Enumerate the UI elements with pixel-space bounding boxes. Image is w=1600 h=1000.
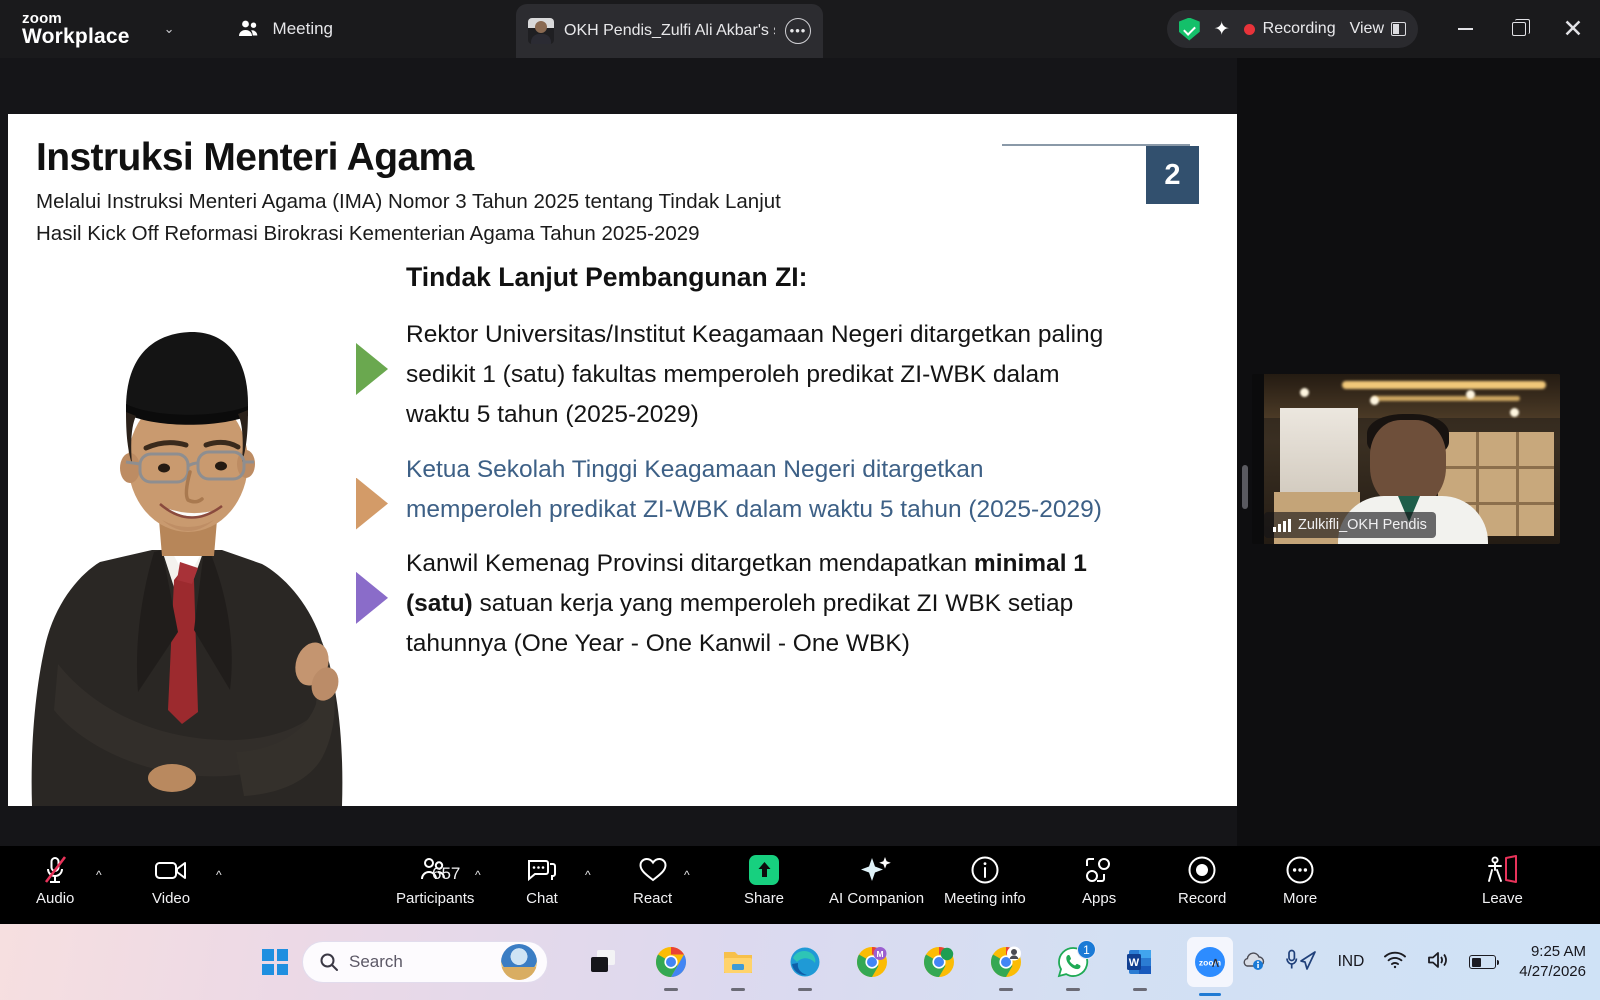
audio-options-chevron-up-icon[interactable]: ^ xyxy=(96,868,102,882)
toolbar-label-participants: Participants xyxy=(396,890,474,907)
taskbar-icon-whatsapp[interactable]: 1 xyxy=(1053,942,1093,982)
toolbar-label-meeting-info: Meeting info xyxy=(944,890,1026,907)
toolbar-button-video[interactable]: Video xyxy=(152,854,190,918)
toolbar-button-react[interactable]: React xyxy=(633,854,672,918)
toolbar-label-apps: Apps xyxy=(1082,890,1116,907)
slide-bullet-3: Kanwil Kemenag Provinsi ditargetkan mend… xyxy=(406,544,1121,665)
slide-body: Tindak Lanjut Pembangunan ZI: Rektor Uni… xyxy=(406,262,1121,678)
microphone-muted-icon xyxy=(41,854,69,885)
camera-icon xyxy=(154,854,188,885)
participant-video-thumbnail[interactable]: Zulkifli_OKH Pendis xyxy=(1252,374,1560,544)
toolbar-label-leave: Leave xyxy=(1482,890,1523,907)
participant-name-label: Zulkifli_OKH Pendis xyxy=(1298,517,1427,533)
chat-icon xyxy=(526,854,558,885)
info-icon xyxy=(970,854,1000,885)
recording-label: Recording xyxy=(1263,20,1336,38)
meeting-tab-label: Meeting xyxy=(273,19,333,39)
slide-body-heading: Tindak Lanjut Pembangunan ZI: xyxy=(406,262,1121,293)
volume-icon[interactable] xyxy=(1426,950,1450,975)
ai-sparkle-icon[interactable]: ✦ xyxy=(1214,20,1230,39)
toolbar-button-leave[interactable]: Leave xyxy=(1482,854,1523,918)
participants-options-chevron-up-icon[interactable]: ^ xyxy=(475,868,481,882)
taskbar-left-group: Search xyxy=(262,941,548,983)
video-ceiling-light-3 xyxy=(1466,390,1475,399)
video-ceiling-light-2 xyxy=(1370,396,1379,405)
slide-number-badge: 2 xyxy=(1146,146,1199,204)
share-screen-icon xyxy=(749,854,779,885)
view-button[interactable]: View xyxy=(1350,20,1406,38)
apps-icon xyxy=(1084,854,1114,885)
zoom-logo-line1: zoom xyxy=(22,11,130,26)
status-pill: ✦ Recording View xyxy=(1167,10,1418,48)
toolbar-button-record[interactable]: Record xyxy=(1178,854,1226,918)
slide-bullet-3-text-before: Kanwil Kemenag Provinsi ditargetkan mend… xyxy=(406,550,974,577)
search-highlight-icon xyxy=(501,944,537,980)
encryption-shield-icon[interactable] xyxy=(1179,18,1200,41)
minister-portrait-photo xyxy=(22,312,367,806)
arrow-marker-purple-icon xyxy=(356,572,388,624)
avatar xyxy=(528,18,554,44)
toolbar-label-react: React xyxy=(633,890,672,907)
toolbar-label-share: Share xyxy=(744,890,784,907)
toolbar-label-audio: Audio xyxy=(36,890,74,907)
minimize-button[interactable] xyxy=(1438,0,1492,58)
tray-expand-chevron-up-icon[interactable]: ∧ xyxy=(1210,954,1220,971)
slide-bullet-2-text: Ketua Sekolah Tinggi Keagamaan Negeri di… xyxy=(406,450,1121,530)
window-controls: ✕ xyxy=(1438,0,1600,58)
slide-title: Instruksi Menteri Agama xyxy=(36,136,474,180)
whatsapp-badge-count: 1 xyxy=(1077,940,1096,959)
zoom-logo: zoom Workplace xyxy=(22,11,130,47)
video-ceiling-light-4 xyxy=(1510,408,1519,417)
participant-name-bar: Zulkifli_OKH Pendis xyxy=(1264,512,1436,538)
toolbar-label-video: Video xyxy=(152,890,190,907)
video-cove-light-2 xyxy=(1372,396,1520,401)
toolbar-button-chat[interactable]: Chat xyxy=(526,854,558,918)
sparkle-icon xyxy=(860,854,894,885)
microphone-location-icon[interactable] xyxy=(1285,949,1319,976)
input-language-label[interactable]: IND xyxy=(1338,953,1365,971)
close-button[interactable]: ✕ xyxy=(1546,0,1600,58)
onedrive-cloud-icon[interactable] xyxy=(1240,950,1266,975)
leave-door-icon xyxy=(1484,854,1520,885)
video-panel-drag-handle[interactable] xyxy=(1242,465,1248,509)
maximize-button[interactable] xyxy=(1492,0,1546,58)
arrow-marker-orange-icon xyxy=(356,478,388,530)
shared-screen-viewport: Instruksi Menteri Agama Melalui Instruks… xyxy=(0,58,1237,846)
audio-signal-bars-icon xyxy=(1273,519,1291,532)
record-icon xyxy=(1187,854,1217,885)
arrow-marker-green-icon xyxy=(356,343,388,395)
react-options-chevron-up-icon[interactable]: ^ xyxy=(684,868,690,882)
wifi-icon[interactable] xyxy=(1383,950,1407,974)
taskbar-search-placeholder: Search xyxy=(349,952,491,972)
toolbar-button-more[interactable]: More xyxy=(1283,854,1317,918)
toolbar-label-more: More xyxy=(1283,890,1317,907)
taskbar-icon-microsoft-word[interactable]: W xyxy=(1120,942,1160,982)
toolbar-button-audio[interactable]: Audio xyxy=(36,854,74,918)
view-label: View xyxy=(1350,20,1384,38)
windows-start-icon[interactable] xyxy=(262,949,288,975)
taskbar-icon-microsoft-edge[interactable] xyxy=(785,942,825,982)
chat-options-chevron-up-icon[interactable]: ^ xyxy=(585,868,591,882)
toolbar-button-meeting-info[interactable]: Meeting info xyxy=(944,854,1026,918)
slide-bullet-1-text: Rektor Universitas/Institut Keagamaan Ne… xyxy=(406,315,1121,436)
meeting-toolbar: Audio ^ Video ^ Participants 6 xyxy=(0,846,1600,924)
taskbar-app-icons: M xyxy=(584,937,1233,987)
taskbar-icon-task-view[interactable] xyxy=(584,942,624,982)
clock-time: 9:25 AM xyxy=(1519,942,1586,962)
video-person-head xyxy=(1370,420,1446,508)
slide-bullet-3-text-after: satuan kerja yang memperoleh predikat ZI… xyxy=(406,590,1073,657)
taskbar-icon-file-explorer[interactable] xyxy=(718,942,758,982)
taskbar-icon-chrome-profile-m[interactable]: M xyxy=(852,942,892,982)
zoom-logo-line2: Workplace xyxy=(22,26,130,47)
app-menu-chevron-down-icon[interactable]: ⌄ xyxy=(164,21,175,37)
taskbar-clock[interactable]: 9:25 AM 4/27/2026 xyxy=(1519,942,1586,983)
tab-more-ellipsis-icon[interactable]: ••• xyxy=(785,18,811,44)
toolbar-label-record: Record xyxy=(1178,890,1226,907)
taskbar-icon-google-chrome[interactable] xyxy=(651,942,691,982)
video-ceiling-light-1 xyxy=(1300,388,1309,397)
taskbar-icon-chrome-profile-green[interactable] xyxy=(919,942,959,982)
slide-bullet-2: Ketua Sekolah Tinggi Keagamaan Negeri di… xyxy=(406,450,1121,530)
title-bar: zoom Workplace ⌄ Meeting OKH Pendis_Zulf… xyxy=(0,0,1600,58)
taskbar-search-input[interactable]: Search xyxy=(302,941,548,983)
screen-share-tab-label: OKH Pendis_Zulfi Ali Akbar's scree xyxy=(564,22,775,40)
screen-share-tab[interactable]: OKH Pendis_Zulfi Ali Akbar's scree ••• xyxy=(516,4,823,58)
toolbar-button-ai-companion[interactable]: AI Companion xyxy=(829,854,924,918)
svg-text:W: W xyxy=(1129,957,1140,969)
heart-icon xyxy=(638,854,668,885)
participants-count: 657 xyxy=(432,864,460,884)
zoom-app-window: zoom Workplace ⌄ Meeting OKH Pendis_Zulf… xyxy=(0,0,1600,1000)
clock-date: 4/27/2026 xyxy=(1519,962,1586,982)
windows-taskbar: Search xyxy=(0,924,1600,1000)
taskbar-icon-chrome-profile-avatar[interactable] xyxy=(986,942,1026,982)
participants-group-icon xyxy=(237,19,261,39)
presentation-slide: Instruksi Menteri Agama Melalui Instruks… xyxy=(8,114,1237,806)
record-dot-icon xyxy=(1244,24,1255,35)
svg-text:M: M xyxy=(876,949,883,959)
layout-view-icon xyxy=(1391,22,1406,36)
battery-icon[interactable] xyxy=(1469,955,1496,969)
more-ellipsis-icon xyxy=(1285,854,1315,885)
slide-bullet-1: Rektor Universitas/Institut Keagamaan Ne… xyxy=(406,315,1121,436)
search-icon xyxy=(319,952,339,972)
recording-indicator[interactable]: Recording xyxy=(1244,20,1336,38)
meeting-tab[interactable]: Meeting xyxy=(237,19,333,39)
toolbar-label-ai-companion: AI Companion xyxy=(829,890,924,907)
video-cove-light xyxy=(1342,381,1546,389)
toolbar-label-chat: Chat xyxy=(526,890,558,907)
toolbar-button-apps[interactable]: Apps xyxy=(1082,854,1116,918)
system-tray: ∧ IND xyxy=(1210,924,1586,1000)
slide-bullet-3-text: Kanwil Kemenag Provinsi ditargetkan mend… xyxy=(406,544,1121,665)
video-options-chevron-up-icon[interactable]: ^ xyxy=(216,868,222,882)
close-icon: ✕ xyxy=(1563,17,1584,42)
toolbar-button-share[interactable]: Share xyxy=(744,854,784,918)
slide-subtitle: Melalui Instruksi Menteri Agama (IMA) No… xyxy=(36,186,816,250)
